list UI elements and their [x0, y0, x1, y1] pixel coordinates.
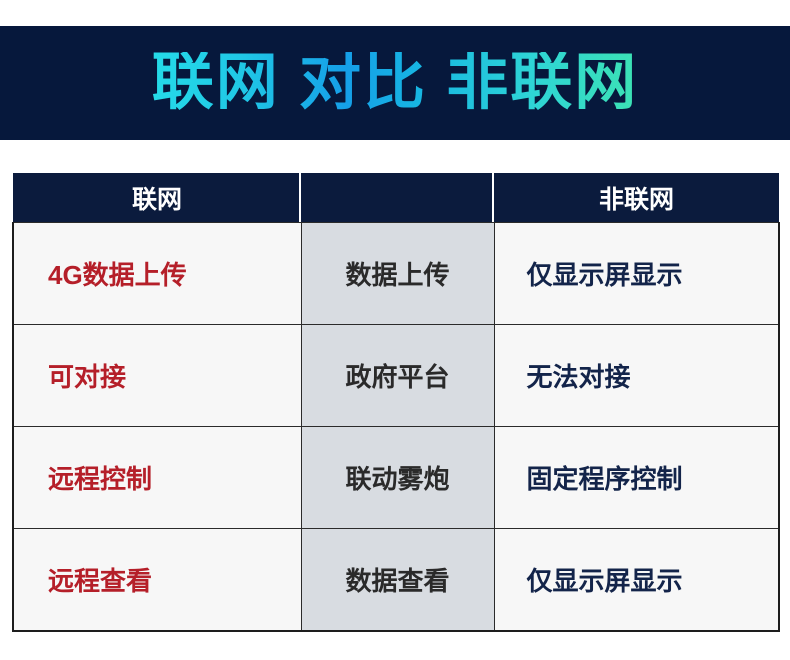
- cell-connected: 远程控制: [13, 427, 301, 529]
- column-header-connected: 联网: [13, 173, 301, 223]
- cell-offline: 仅显示屏显示: [494, 529, 779, 632]
- cell-offline: 无法对接: [494, 325, 779, 427]
- column-header-feature: [301, 173, 494, 223]
- table-row: 4G数据上传 数据上传 仅显示屏显示: [13, 223, 779, 325]
- cell-connected: 远程查看: [13, 529, 301, 632]
- table-header: 联网 非联网: [13, 173, 779, 223]
- cell-offline: 仅显示屏显示: [494, 223, 779, 325]
- table-row: 远程控制 联动雾炮 固定程序控制: [13, 427, 779, 529]
- cell-offline: 固定程序控制: [494, 427, 779, 529]
- cell-feature: 数据上传: [301, 223, 494, 325]
- cell-feature: 政府平台: [301, 325, 494, 427]
- cell-connected: 可对接: [13, 325, 301, 427]
- column-header-offline: 非联网: [494, 173, 779, 223]
- comparison-table-wrapper: 联网 非联网 4G数据上传 数据上传 仅显示屏显示 可对接 政府平台 无法对接 …: [12, 173, 778, 632]
- cell-feature: 联动雾炮: [301, 427, 494, 529]
- title-banner: 联网 对比 非联网: [0, 26, 790, 140]
- table-row: 可对接 政府平台 无法对接: [13, 325, 779, 427]
- table-header-row: 联网 非联网: [13, 173, 779, 223]
- table-body: 4G数据上传 数据上传 仅显示屏显示 可对接 政府平台 无法对接 远程控制 联动…: [13, 223, 779, 632]
- table-row: 远程查看 数据查看 仅显示屏显示: [13, 529, 779, 632]
- page-title: 联网 对比 非联网: [152, 52, 638, 114]
- comparison-table: 联网 非联网 4G数据上传 数据上传 仅显示屏显示 可对接 政府平台 无法对接 …: [12, 173, 780, 632]
- cell-feature: 数据查看: [301, 529, 494, 632]
- cell-connected: 4G数据上传: [13, 223, 301, 325]
